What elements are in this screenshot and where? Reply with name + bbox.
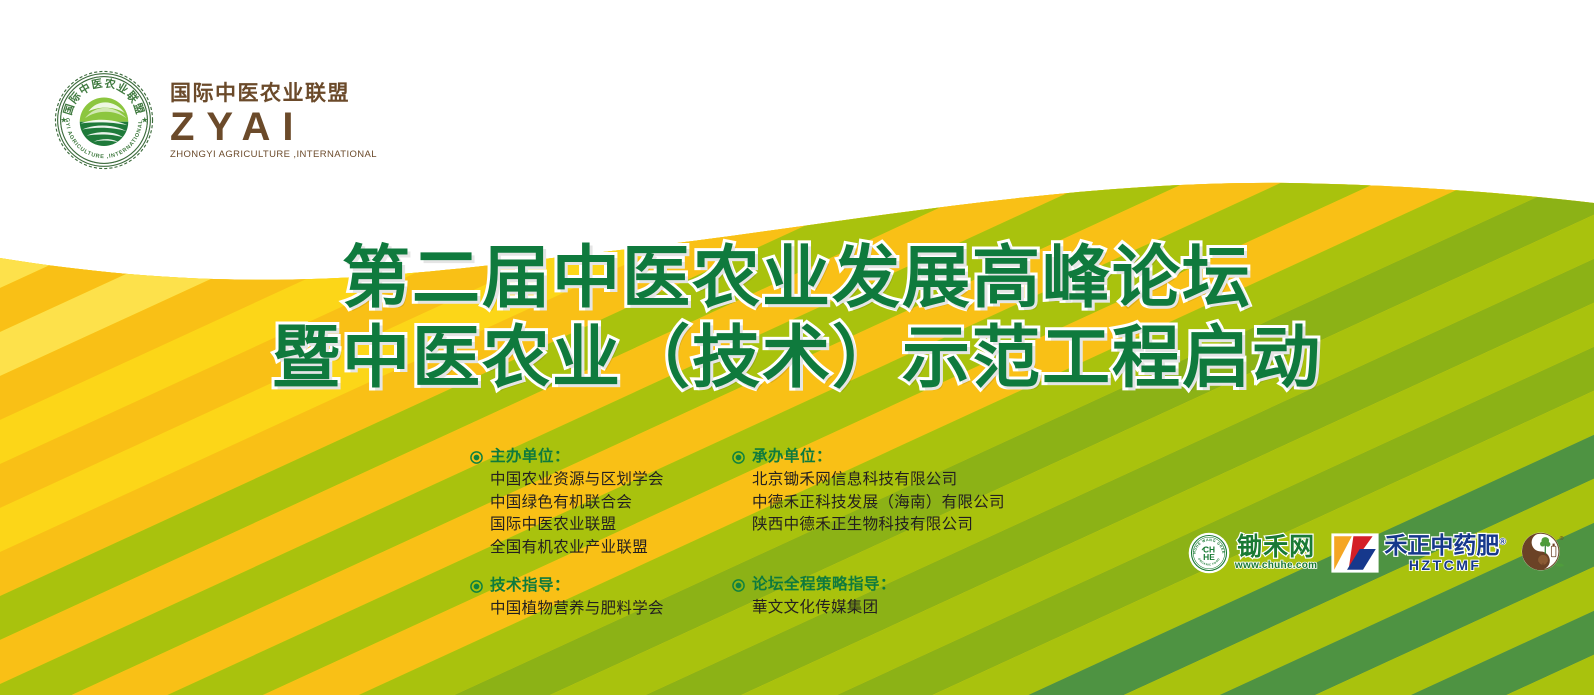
list-item: 中国绿色有机联合会 (490, 492, 732, 515)
organizer-item-list: 北京锄禾网信息科技有限公司 中德禾正科技发展（海南）有限公司 陕西中德禾正生物科… (732, 469, 1062, 537)
sponsor-seed: ® (1520, 531, 1566, 575)
sponsor-chuhe: CHUHE WANG GREEN ORGANIC FOOD CH HE 锄禾网 … (1188, 532, 1317, 574)
list-item: 中德禾正科技发展（海南）有限公司 (752, 492, 1062, 515)
organizer-group-host: 主办单位： 中国农业资源与区划学会 中国绿色有机联合会 国际中医农业联盟 全国有… (470, 447, 732, 560)
hzt-z-mark-icon: Z (1331, 533, 1379, 573)
organizer-group-strategy: 论坛全程策略指导： 華文文化传媒集团 (732, 575, 1062, 620)
organizer-item-list: 華文文化传媒集团 (732, 597, 1062, 620)
organizer-group-heading: 主办单位： (470, 447, 732, 468)
organizer-item-list: 中国农业资源与区划学会 中国绿色有机联合会 国际中医农业联盟 全国有机农业产业联… (470, 469, 732, 560)
logo-wordmark-en: ZHONGYI AGRICULTURE ,INTERNATIONAL (170, 150, 377, 160)
logo-wordmark-cn: 国际中医农业联盟 (170, 82, 377, 105)
organizer-group-heading: 论坛全程策略指导： (732, 575, 1062, 596)
organizer-column-right: 承办单位： 北京锄禾网信息科技有限公司 中德禾正科技发展（海南）有限公司 陕西中… (732, 447, 1062, 629)
chuhe-seal-icon: CHUHE WANG GREEN ORGANIC FOOD CH HE (1188, 532, 1230, 574)
bullet-circle-icon (470, 580, 483, 593)
organizer-heading-label: 论坛全程策略指导： (752, 575, 896, 596)
svg-text:★: ★ (141, 116, 148, 125)
chuhe-text: 锄禾网 www.chuhe.com (1235, 535, 1317, 571)
logo-wordmark-abbr: ZYAI (170, 106, 377, 148)
organizer-column-left: 主办单位： 中国农业资源与区划学会 中国绿色有机联合会 国际中医农业联盟 全国有… (470, 447, 732, 629)
conference-banner: 国际中医农业联盟 ZHONGYI AGRICULTURE ,INTERNATIO… (0, 0, 1594, 695)
logo-wordmark: 国际中医农业联盟 ZYAI ZHONGYI AGRICULTURE ,INTER… (170, 80, 377, 161)
registered-mark: ® (1499, 536, 1506, 546)
organization-logo: 国际中医农业联盟 ZHONGYI AGRICULTURE ,INTERNATIO… (52, 68, 377, 172)
organizer-group-heading: 技术指导： (470, 576, 732, 597)
sponsor-url: www.chuhe.com (1235, 561, 1317, 571)
bullet-circle-icon (732, 451, 745, 464)
list-item: 国际中医农业联盟 (490, 514, 732, 537)
list-item: 陕西中德禾正生物科技有限公司 (752, 514, 1062, 537)
sponsor-hzt: Z 禾正中药肥® HZTCMF (1331, 533, 1506, 573)
registered-mark: ® (1560, 535, 1564, 542)
organizer-group-heading: 承办单位： (732, 447, 1062, 468)
list-item: 中国农业资源与区划学会 (490, 469, 732, 492)
organizer-group-tech: 技术指导： 中国植物营养与肥料学会 (470, 576, 732, 621)
zyai-emblem-icon: 国际中医农业联盟 ZHONGYI AGRICULTURE ,INTERNATIO… (52, 68, 156, 172)
svg-text:★: ★ (60, 116, 67, 125)
sponsor-name-en: HZTCMF (1409, 558, 1482, 572)
seed-sprout-seal-icon: ® (1520, 531, 1566, 575)
sponsor-name-cn: 锄禾网 (1237, 535, 1315, 560)
organizer-heading-label: 主办单位： (490, 447, 570, 468)
hzt-text: 禾正中药肥® HZTCMF (1384, 534, 1506, 572)
sponsor-name-cn: 禾正中药肥® (1384, 534, 1506, 557)
sponsor-logo-row: CHUHE WANG GREEN ORGANIC FOOD CH HE 锄禾网 … (1188, 531, 1566, 575)
list-item: 中国植物营养与肥料学会 (490, 598, 732, 621)
svg-text:HE: HE (1203, 552, 1215, 562)
list-item: 北京锄禾网信息科技有限公司 (752, 469, 1062, 492)
bullet-circle-icon (732, 579, 745, 592)
list-item: 全国有机农业产业联盟 (490, 537, 732, 560)
list-item: 華文文化传媒集团 (752, 597, 1062, 620)
bullet-circle-icon (470, 451, 483, 464)
organizer-heading-label: 技术指导： (490, 576, 570, 597)
organizer-heading-label: 承办单位： (752, 447, 832, 468)
organizer-group-coorganizer: 承办单位： 北京锄禾网信息科技有限公司 中德禾正科技发展（海南）有限公司 陕西中… (732, 447, 1062, 537)
organizer-info: 主办单位： 中国农业资源与区划学会 中国绿色有机联合会 国际中医农业联盟 全国有… (470, 447, 1062, 629)
organizer-item-list: 中国植物营养与肥料学会 (470, 598, 732, 621)
